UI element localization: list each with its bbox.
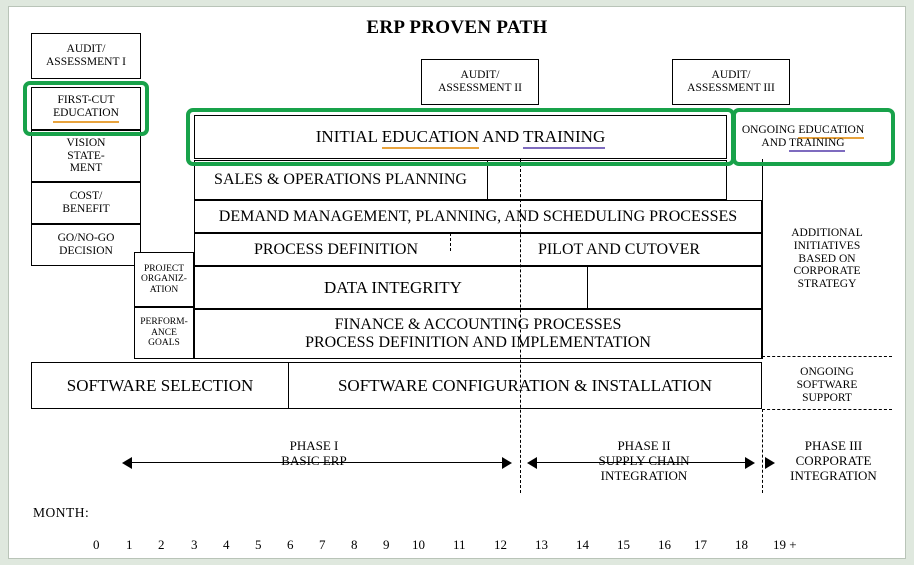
cost-benefit-box: COST/ BENEFIT <box>31 182 141 224</box>
phase-3-line2: CORPORATE <box>771 454 896 469</box>
phase-3-line3: INTEGRATION <box>771 469 896 484</box>
phase-3-arrowhead-right <box>765 457 775 469</box>
audit-assessment-2-box: AUDIT/ ASSESSMENT II <box>421 59 539 105</box>
phase-2-line1: PHASE II <box>554 439 734 454</box>
month-tick-15: 15 <box>617 537 630 553</box>
cost-line2: BENEFIT <box>62 203 109 216</box>
oss-top-dashed <box>762 356 892 357</box>
sales-ops-divider <box>487 160 488 200</box>
month-tick-18: 18 <box>735 537 748 553</box>
data-integrity-label: DATA INTEGRITY <box>324 278 462 297</box>
month-tick-11: 11 <box>453 537 466 553</box>
process-pilot-dashed-tick <box>450 233 451 251</box>
project-org-line3: ATION <box>150 285 179 296</box>
gonogo-line2: DECISION <box>59 245 113 258</box>
audit-3-line2: ASSESSMENT III <box>687 82 775 95</box>
phase-2-arrowhead-right <box>745 457 755 469</box>
ongoing-education-line1: ONGOING EDUCATION <box>742 124 864 137</box>
software-selection-label: SOFTWARE SELECTION <box>67 376 254 395</box>
sales-ops-label: SALES & OPERATIONS PLANNING <box>214 171 467 189</box>
project-org-line1: PROJECT <box>144 264 184 275</box>
project-organization-box: PROJECT ORGANIZ- ATION <box>134 252 194 307</box>
process-pilot-dashed-divider <box>399 233 504 234</box>
month-tick-5: 5 <box>255 537 262 553</box>
oss-line1: ONGOING <box>800 366 854 379</box>
month-tick-8: 8 <box>351 537 358 553</box>
phase1-phase2-separator <box>520 159 521 493</box>
additional-initiatives-box: ADDITIONAL INITIATIVES BASED ON CORPORAT… <box>762 159 892 359</box>
month-tick-3: 3 <box>191 537 198 553</box>
screenshot-root: ERP PROVEN PATH AUDIT/ ASSESSMENT I AUDI… <box>0 0 914 565</box>
month-tick-6: 6 <box>287 537 294 553</box>
initial-education-word: EDUCATION <box>382 127 479 149</box>
month-tick-17: 17 <box>694 537 707 553</box>
addl-line1: ADDITIONAL <box>791 227 863 240</box>
phase-1-arrowhead-left <box>122 457 132 469</box>
phase-2-arrow <box>527 457 755 469</box>
addl-line5: STRATEGY <box>798 278 857 291</box>
audit-2-line1: AUDIT/ <box>461 69 500 82</box>
initial-education-pre: INITIAL <box>316 127 382 146</box>
phase-1-arrow <box>122 457 512 469</box>
audit-assessment-3-box: AUDIT/ ASSESSMENT III <box>672 59 790 105</box>
phase-1-arrowline <box>132 462 502 463</box>
finance-accounting-band: FINANCE & ACCOUNTING PROCESSES PROCESS D… <box>194 309 762 359</box>
audit-1-line1: AUDIT/ <box>67 43 106 56</box>
phase-3-label: PHASE III CORPORATE INTEGRATION <box>771 439 896 484</box>
month-tick-0: 0 <box>93 537 100 553</box>
finance-line1: FINANCE & ACCOUNTING PROCESSES <box>335 316 622 334</box>
ongoing-education-line2: AND TRAINING <box>761 137 844 150</box>
audit-1-line2: ASSESSMENT I <box>46 56 126 69</box>
initial-education-mid: AND <box>479 127 523 146</box>
vision-statement-box: VISION STATE- MENT <box>31 130 141 182</box>
month-tick-2: 2 <box>158 537 165 553</box>
initial-training-word: TRAINING <box>523 127 605 149</box>
phase-3-arrow <box>765 457 777 469</box>
demand-management-band: DEMAND MANAGEMENT, PLANNING, AND SCHEDUL… <box>194 200 762 233</box>
ongoing-pre: ONGOING <box>742 124 799 136</box>
initial-education-training-band: INITIAL EDUCATION AND TRAINING <box>194 115 727 159</box>
month-tick-16: 16 <box>658 537 671 553</box>
page-title: ERP PROVEN PATH <box>9 17 905 39</box>
right-column-divider <box>762 159 763 359</box>
diagram-canvas: ERP PROVEN PATH AUDIT/ ASSESSMENT I AUDI… <box>8 6 906 559</box>
oss-bottom-dashed <box>762 409 892 410</box>
month-tick-9: 9 <box>383 537 390 553</box>
ongoing-education-training-band: ONGOING EDUCATION AND TRAINING <box>727 115 879 159</box>
ongoing-software-support-box: ONGOING SOFTWARE SUPPORT <box>762 362 892 409</box>
phase-1-arrowhead-right <box>502 457 512 469</box>
month-tick-7: 7 <box>319 537 326 553</box>
ongoing-mid: AND <box>761 137 789 149</box>
gonogo-line1: GO/NO-GO <box>58 232 115 245</box>
perf-goals-line1: PERFORM- <box>140 317 188 328</box>
oss-line2: SOFTWARE <box>797 379 858 392</box>
data-integrity-divider <box>587 266 588 309</box>
sales-operations-planning-band: SALES & OPERATIONS PLANNING <box>194 160 727 200</box>
perf-goals-line2: ANCE <box>151 328 177 339</box>
phase2-phase3-separator <box>762 409 763 493</box>
addl-line2: INITIATIVES <box>794 240 860 253</box>
software-configuration-band: SOFTWARE CONFIGURATION & INSTALLATION <box>289 362 762 409</box>
software-config-label: SOFTWARE CONFIGURATION & INSTALLATION <box>338 376 712 395</box>
first-cut-education-line2: EDUCATION <box>53 107 119 123</box>
phase-1-line1: PHASE I <box>224 439 404 454</box>
first-cut-education-line1: FIRST-CUT <box>57 94 114 107</box>
vision-line2: STATE- <box>67 150 104 163</box>
audit-3-line1: AUDIT/ <box>712 69 751 82</box>
phase-2-arrowline <box>537 462 745 463</box>
vision-line3: MENT <box>70 162 103 175</box>
vision-line1: VISION <box>67 137 106 150</box>
month-tick-1: 1 <box>126 537 133 553</box>
month-tick-10: 10 <box>412 537 425 553</box>
phase-2-arrowhead-left <box>527 457 537 469</box>
month-label: MONTH: <box>33 505 89 521</box>
month-tick-14: 14 <box>576 537 589 553</box>
month-tick-13: 13 <box>535 537 548 553</box>
cost-line1: COST/ <box>70 190 103 203</box>
addl-line4: CORPORATE <box>793 265 860 278</box>
phase-2-line3: INTEGRATION <box>554 469 734 484</box>
data-integrity-band: DATA INTEGRITY <box>194 266 762 309</box>
month-tick-19: 19 + <box>773 537 797 553</box>
month-tick-4: 4 <box>223 537 230 553</box>
addl-line3: BASED ON <box>798 253 855 266</box>
phase-3-line1: PHASE III <box>771 439 896 454</box>
project-org-line2: ORGANIZ- <box>141 274 187 285</box>
ongoing-training-word: TRAINING <box>789 137 845 152</box>
go-no-go-decision-box: GO/NO-GO DECISION <box>31 224 141 266</box>
process-definition-label: PROCESS DEFINITION <box>254 241 418 259</box>
first-cut-education-box: FIRST-CUT EDUCATION <box>31 87 141 130</box>
audit-2-line2: ASSESSMENT II <box>438 82 522 95</box>
process-definition-band: PROCESS DEFINITION <box>194 233 477 266</box>
initial-education-text: INITIAL EDUCATION AND TRAINING <box>316 127 605 146</box>
software-selection-band: SOFTWARE SELECTION <box>31 362 289 409</box>
oss-line3: SUPPORT <box>802 392 852 405</box>
performance-goals-box: PERFORM- ANCE GOALS <box>134 307 194 359</box>
finance-line2: PROCESS DEFINITION AND IMPLEMENTATION <box>305 334 651 352</box>
demand-mgmt-label: DEMAND MANAGEMENT, PLANNING, AND SCHEDUL… <box>219 208 737 226</box>
audit-assessment-1-box: AUDIT/ ASSESSMENT I <box>31 33 141 79</box>
perf-goals-line3: GOALS <box>148 338 180 349</box>
month-tick-12: 12 <box>494 537 507 553</box>
pilot-cutover-label: PILOT AND CUTOVER <box>538 241 700 259</box>
